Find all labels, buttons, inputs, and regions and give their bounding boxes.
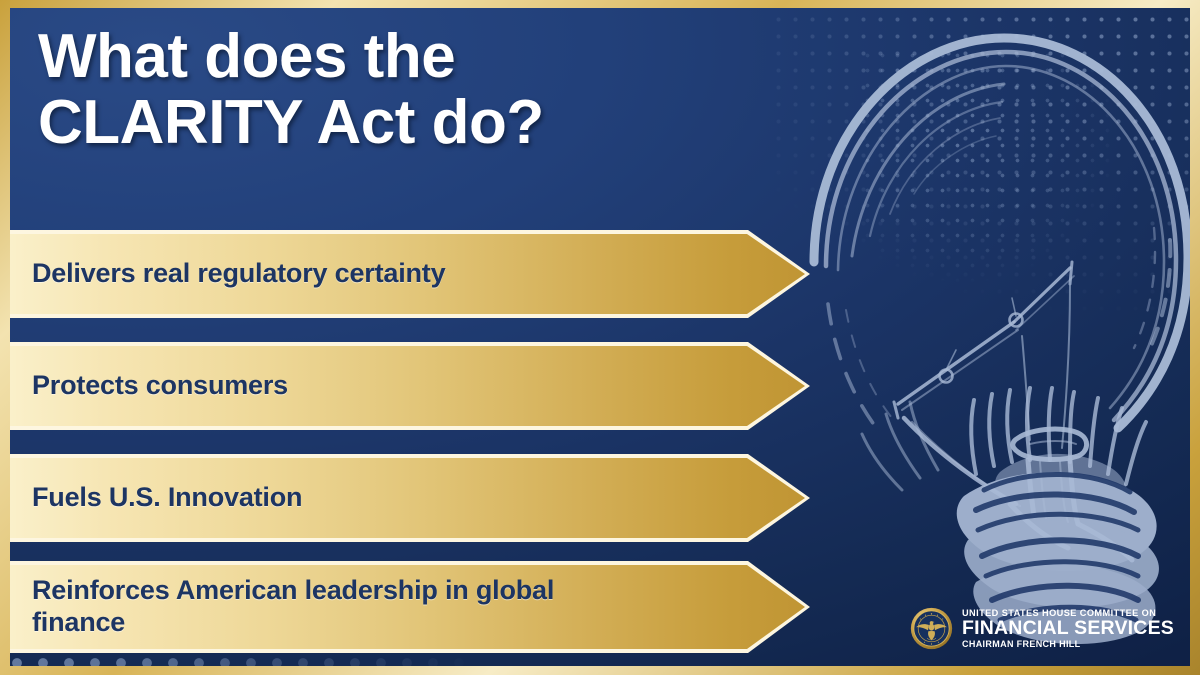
committee-logo-text: UNITED STATES HOUSE COMMITTEE ON FINANCI… [962, 608, 1174, 649]
us-house-seal-icon [910, 607, 953, 650]
page-title-line-2: CLARITY Act do? [38, 90, 828, 156]
benefit-arrow-2: Protects consumers [10, 342, 810, 430]
poster-canvas: What does the CLARITY Act do? Delivers r… [10, 8, 1190, 666]
lightbulb-icon [778, 8, 1190, 644]
committee-logo: UNITED STATES HOUSE COMMITTEE ON FINANCI… [910, 607, 1174, 650]
benefit-arrow-4: Reinforces American leadership in global… [10, 561, 810, 653]
logo-line-financial-services: FINANCIAL SERVICES [962, 618, 1174, 639]
logo-line-chairman: CHAIRMAN FRENCH HILL [962, 639, 1174, 649]
benefit-label-2: Protects consumers [32, 342, 650, 430]
page-title-line-1: What does the [38, 24, 828, 90]
benefit-arrow-3: Fuels U.S. Innovation [10, 454, 810, 542]
benefit-arrow-1: Delivers real regulatory certainty [10, 230, 810, 318]
benefit-label-4: Reinforces American leadership in global… [32, 561, 630, 653]
benefit-label-1: Delivers real regulatory certainty [32, 230, 650, 318]
poster-frame: What does the CLARITY Act do? Delivers r… [0, 0, 1200, 675]
page-title: What does the CLARITY Act do? [38, 24, 828, 155]
benefit-label-3: Fuels U.S. Innovation [32, 454, 650, 542]
